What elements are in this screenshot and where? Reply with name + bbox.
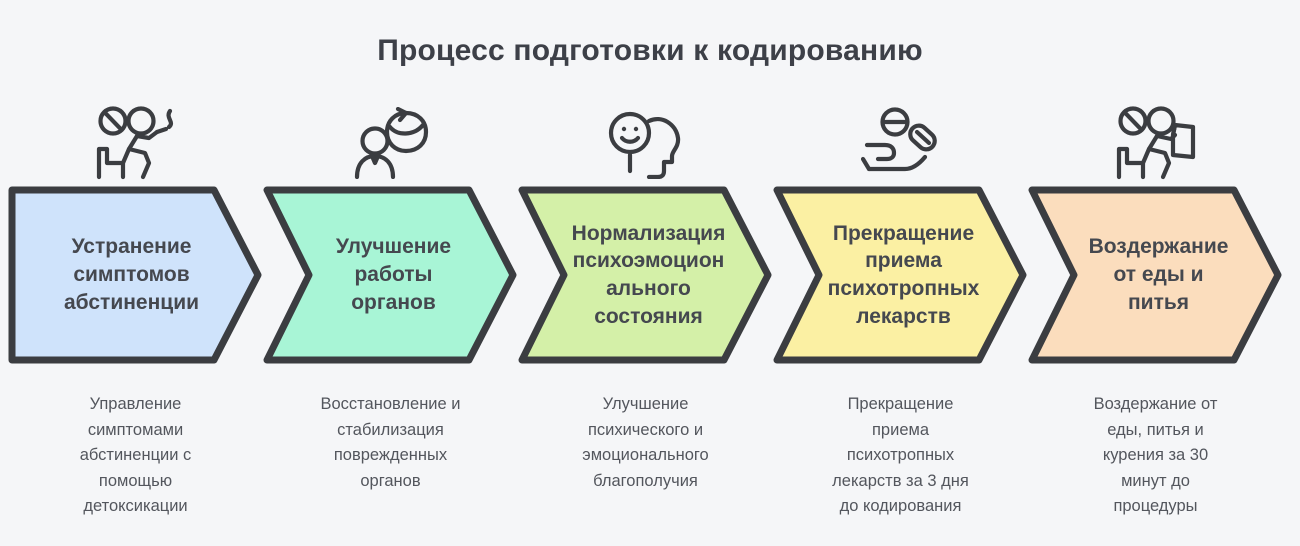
process-steps-row: Устранение симптомов абстиненции Управле… bbox=[8, 100, 1292, 540]
step-2-description: Восстановление и стабилизация поврежденн… bbox=[283, 392, 498, 494]
no-food-drink-person-icon bbox=[1028, 100, 1283, 186]
process-step-4[interactable]: Прекращение приема психотропных лекарств… bbox=[773, 100, 1028, 520]
step-4-description: Прекращение приема психотропных лекарств… bbox=[793, 392, 1008, 520]
step-5-description: Воздержание от еды, питья и курения за 3… bbox=[1048, 392, 1263, 520]
chevron-shape-4: Прекращение приема психотропных лекарств bbox=[773, 186, 1028, 364]
no-smoking-person-icon bbox=[8, 100, 263, 186]
page-title: Процесс подготовки к кодированию bbox=[0, 34, 1300, 68]
process-step-5[interactable]: Воздержание от еды и питья Воздержание о… bbox=[1028, 100, 1283, 520]
step-3-label: Нормализация психоэмоцион ального состоя… bbox=[518, 186, 773, 364]
chevron-shape-1: Устранение симптомов абстиненции bbox=[8, 186, 263, 364]
process-step-1[interactable]: Устранение симптомов абстиненции Управле… bbox=[8, 100, 263, 520]
step-3-description: Улучшение психического и эмоционального … bbox=[538, 392, 753, 494]
process-step-3[interactable]: Нормализация психоэмоцион ального состоя… bbox=[518, 100, 773, 494]
step-2-label: Улучшение работы органов bbox=[263, 186, 518, 364]
smiley-head-profile-icon bbox=[518, 100, 773, 186]
step-4-label: Прекращение приема психотропных лекарств bbox=[773, 186, 1028, 364]
step-1-description: Управление симптомами абстиненции с помо… bbox=[28, 392, 243, 520]
chevron-shape-3: Нормализация психоэмоцион ального состоя… bbox=[518, 186, 773, 364]
chevron-shape-2: Улучшение работы органов bbox=[263, 186, 518, 364]
infographic-root: Процесс подготовки к кодированию bbox=[0, 0, 1300, 546]
person-recovery-arrow-icon bbox=[263, 100, 518, 186]
hand-holding-pills-icon bbox=[773, 100, 1028, 186]
process-step-2[interactable]: Улучшение работы органов Восстановление … bbox=[263, 100, 518, 494]
chevron-shape-5: Воздержание от еды и питья bbox=[1028, 186, 1283, 364]
step-1-label: Устранение симптомов абстиненции bbox=[8, 186, 263, 364]
step-5-label: Воздержание от еды и питья bbox=[1028, 186, 1283, 364]
